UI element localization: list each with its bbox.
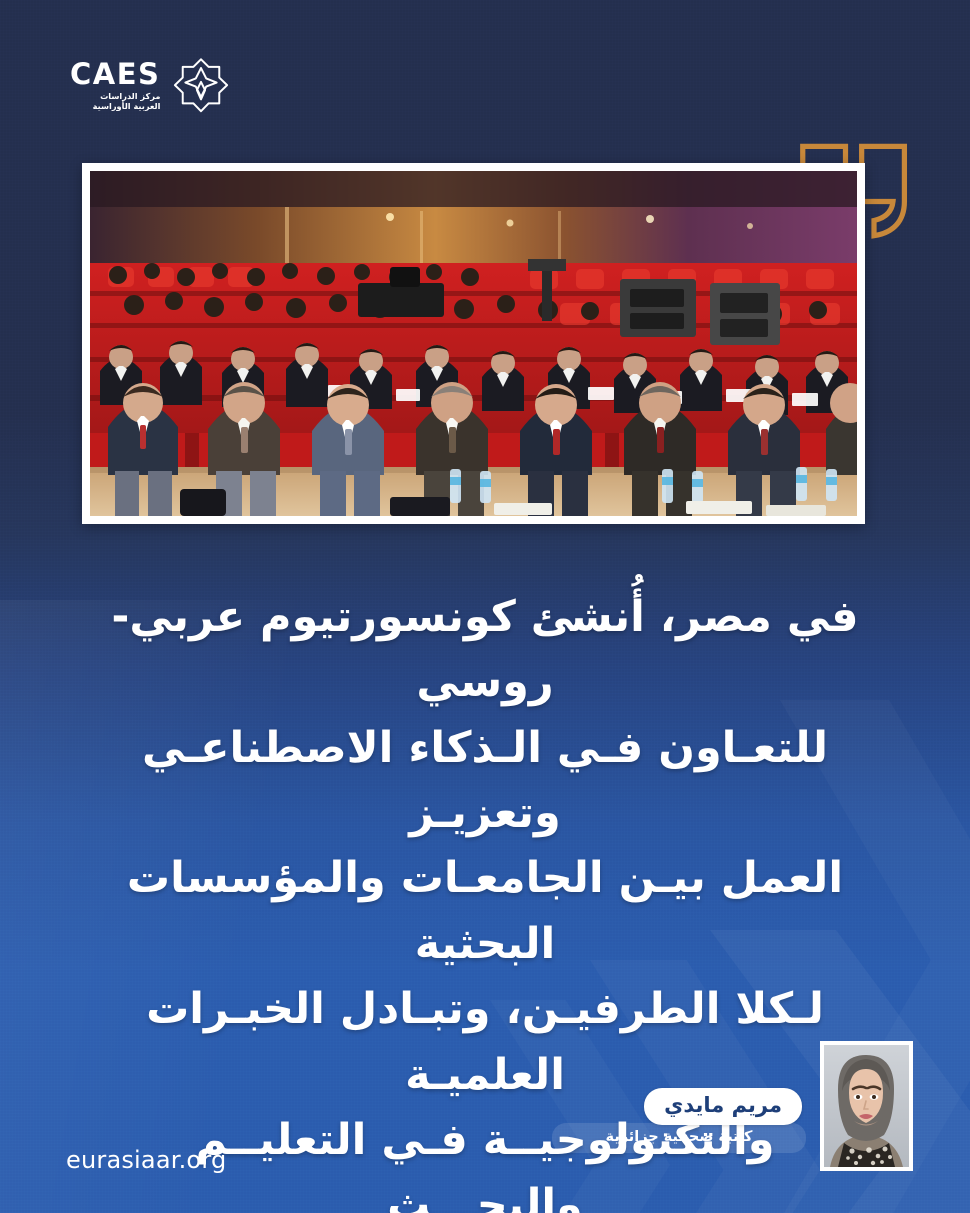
hero-photo	[90, 171, 857, 516]
website-url[interactable]: eurasiaar.org	[66, 1146, 226, 1174]
author-role-badge: كاتبة صحفية جزائرية	[552, 1123, 806, 1153]
headline-line: في مصر، أُنشئ كونسورتيوم عربي- روسي	[95, 585, 875, 716]
author-photo-frame	[820, 1041, 913, 1171]
brand-acronym: CAES	[70, 60, 160, 89]
brand-logo[interactable]: CAES مركز الدراسات العربية الأوراسية	[70, 57, 230, 115]
social-quote-card: CAES مركز الدراسات العربية الأوراسية	[0, 0, 970, 1213]
author-name-badge: مريم مايدي	[644, 1088, 802, 1125]
brand-logo-text: CAES مركز الدراسات العربية الأوراسية	[70, 60, 160, 111]
eight-point-star-logo-icon	[172, 57, 230, 115]
brand-arabic-line-2: العربية الأوراسية	[93, 102, 161, 112]
brand-arabic-name: مركز الدراسات العربية الأوراسية	[93, 92, 161, 111]
avatar	[824, 1045, 909, 1167]
headline-line: للتعـاون فـي الـذكاء الاصطناعـي وتعزيـز	[95, 716, 875, 847]
headline-line: العمل بيـن الجامعـات والمؤسسات البحثية	[95, 846, 875, 977]
hero-photo-frame	[82, 163, 865, 524]
